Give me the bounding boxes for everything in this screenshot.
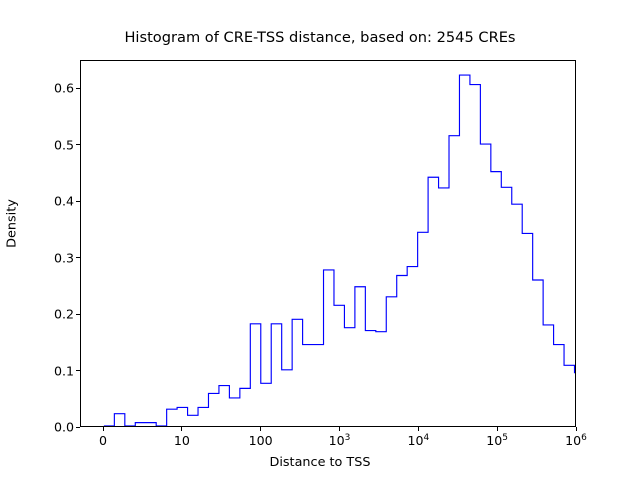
plot-area bbox=[80, 60, 576, 427]
x-tick-label: 100 bbox=[226, 433, 296, 448]
x-tick-label: 10 bbox=[147, 433, 217, 448]
y-tick-label: 0.6 bbox=[34, 81, 74, 96]
histogram-step-plot bbox=[81, 61, 575, 426]
x-tick-label: 103 bbox=[305, 433, 375, 448]
y-axis-label: Density bbox=[5, 144, 20, 304]
x-tick-label: 106 bbox=[541, 433, 611, 448]
y-tick-label-group: 0.00.10.20.30.40.50.6 bbox=[26, 0, 74, 480]
histogram-outline bbox=[104, 75, 575, 426]
x-tick-mark bbox=[260, 427, 261, 431]
x-tick-label: 0 bbox=[68, 433, 138, 448]
y-tick-label: 0.4 bbox=[34, 194, 74, 209]
y-tick-label: 0.2 bbox=[34, 307, 74, 322]
figure-canvas: Histogram of CRE-TSS distance, based on:… bbox=[0, 0, 640, 480]
x-tick-mark bbox=[181, 427, 182, 431]
y-tick-label: 0.5 bbox=[34, 137, 74, 152]
x-axis-label: Distance to TSS bbox=[0, 455, 640, 470]
x-tick-mark bbox=[339, 427, 340, 431]
x-tick-mark bbox=[497, 427, 498, 431]
x-tick-mark bbox=[418, 427, 419, 431]
y-tick-label: 0.3 bbox=[34, 250, 74, 265]
x-tick-label: 104 bbox=[383, 433, 453, 448]
chart-title: Histogram of CRE-TSS distance, based on:… bbox=[0, 29, 640, 46]
x-tick-label: 105 bbox=[462, 433, 532, 448]
y-tick-label: 0.1 bbox=[34, 363, 74, 378]
x-tick-mark bbox=[576, 427, 577, 431]
x-tick-mark bbox=[103, 427, 104, 431]
